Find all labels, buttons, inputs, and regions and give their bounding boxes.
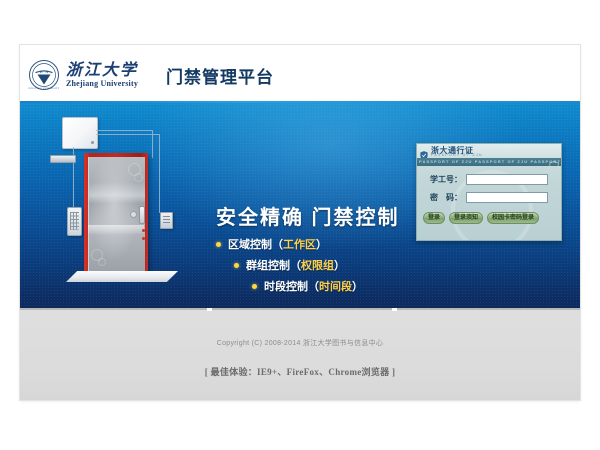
door-closer-icon <box>50 155 76 163</box>
wire-controller-to-right-2 <box>96 134 159 135</box>
feature-text-tail: ） <box>334 257 345 273</box>
site-header: ZHEJIANG UNIVERSITY 浙江大学 Zhejiang Univer… <box>20 45 580 103</box>
student-staff-id-input[interactable] <box>466 174 548 185</box>
keypad-grid-icon <box>70 212 79 230</box>
browser-content-frame: ZHEJIANG UNIVERSITY 浙江大学 Zhejiang Univer… <box>20 45 580 400</box>
door-indicator-icon <box>142 229 145 232</box>
feature-text: 时段控制（ <box>264 278 319 294</box>
door-handle-icon <box>139 206 145 224</box>
svg-text:ZHEJIANG UNIVERSITY: ZHEJIANG UNIVERSITY <box>28 87 59 90</box>
wire-down-to-door <box>152 130 153 158</box>
banner-headline: 安全精确 门禁控制 <box>216 201 400 230</box>
footer-tab-marks <box>20 308 580 311</box>
wire-down-to-reader <box>159 134 160 213</box>
gear-decoration-icon <box>134 173 143 182</box>
passport-watermark-strip: PASSPORT OF ZJU PASSPORT OF ZJU PASSPORT… <box>417 158 561 166</box>
door-knob-icon <box>130 211 137 218</box>
controller-led-icon <box>91 141 94 144</box>
feature-item-time-control: 时段控制（时间段） <box>216 278 426 294</box>
login-notice-button[interactable]: 登录须知 <box>449 212 483 224</box>
door-indicator-icon <box>142 237 145 240</box>
brand-name-cn: 浙江大学 <box>66 62 138 79</box>
card-reader-icon <box>160 212 173 229</box>
login-panel-subtitle: PASSPORT OF ZJU <box>431 153 483 157</box>
feature-text: 区域控制（ <box>228 236 283 252</box>
bullet-dot-icon <box>216 242 221 247</box>
password-input[interactable] <box>466 192 548 203</box>
feature-text: 群组控制（ <box>246 257 301 273</box>
form-row-username: 学工号： <box>426 174 548 185</box>
page-title: 门禁管理平台 <box>166 63 274 88</box>
gear-decoration-icon <box>98 258 106 266</box>
password-label: 密 码： <box>426 192 462 203</box>
wire-controller-to-right-1 <box>96 130 152 131</box>
header-brand: ZHEJIANG UNIVERSITY 浙江大学 Zhejiang Univer… <box>28 59 274 91</box>
hero-banner: 安全精确 门禁控制 区域控制（工作区） 群组控制（权限组） 时段控制（时间段） <box>20 103 580 308</box>
controller-box-icon <box>62 117 98 149</box>
feature-accent: 工作区 <box>283 236 316 252</box>
bullet-dot-icon <box>252 284 257 289</box>
feature-item-group-control: 群组控制（权限组） <box>216 257 426 273</box>
copyright-text: Copyright (C) 2008-2014 浙江大学图书与信息中心 <box>20 338 580 348</box>
feature-text-tail: ） <box>352 278 363 294</box>
zju-seal-icon: ZHEJIANG UNIVERSITY <box>28 59 60 91</box>
bullet-dot-icon <box>234 263 239 268</box>
username-label: 学工号： <box>426 174 462 185</box>
floor-slab <box>66 271 178 282</box>
passport-strip-text: PASSPORT OF ZJU PASSPORT OF ZJU PASSPORT… <box>417 158 561 166</box>
banner-feature-list: 区域控制（工作区） 群组控制（权限组） 时段控制（时间段） <box>216 236 426 299</box>
login-button-group: 登录 登录须知 校园卡密码登录 <box>423 212 539 224</box>
brand-name-en: Zhejiang University <box>66 79 138 89</box>
access-control-door-illustration <box>42 111 192 301</box>
shield-icon <box>420 147 428 156</box>
feature-item-area-control: 区域控制（工作区） <box>216 236 426 252</box>
card-reader-lines-icon <box>163 216 170 225</box>
keypad-reader-icon <box>67 207 82 236</box>
form-row-password: 密 码： <box>426 192 548 203</box>
door-highlight-band <box>88 225 144 234</box>
feature-accent: 权限组 <box>301 257 334 273</box>
site-footer: Copyright (C) 2008-2014 浙江大学图书与信息中心 [ 最佳… <box>20 308 580 400</box>
feature-text-tail: ） <box>316 236 327 252</box>
footer-tab-mark <box>392 308 397 311</box>
campus-card-login-button[interactable]: 校园卡密码登录 <box>487 212 539 224</box>
feature-accent: 时间段 <box>319 278 352 294</box>
login-button[interactable]: 登录 <box>423 212 445 224</box>
shield-icon <box>549 159 559 166</box>
footer-tab-mark <box>207 308 212 311</box>
login-panel: 浙大通行证 PASSPORT OF ZJU PASSPORT OF ZJU PA… <box>416 143 562 241</box>
brand-wordmark: 浙江大学 Zhejiang University <box>66 62 138 89</box>
browser-support-text: [ 最佳体验：IE9+、FireFox、Chrome浏览器 ] <box>20 365 580 378</box>
page-root: ZHEJIANG UNIVERSITY 浙江大学 Zhejiang Univer… <box>0 0 600 450</box>
